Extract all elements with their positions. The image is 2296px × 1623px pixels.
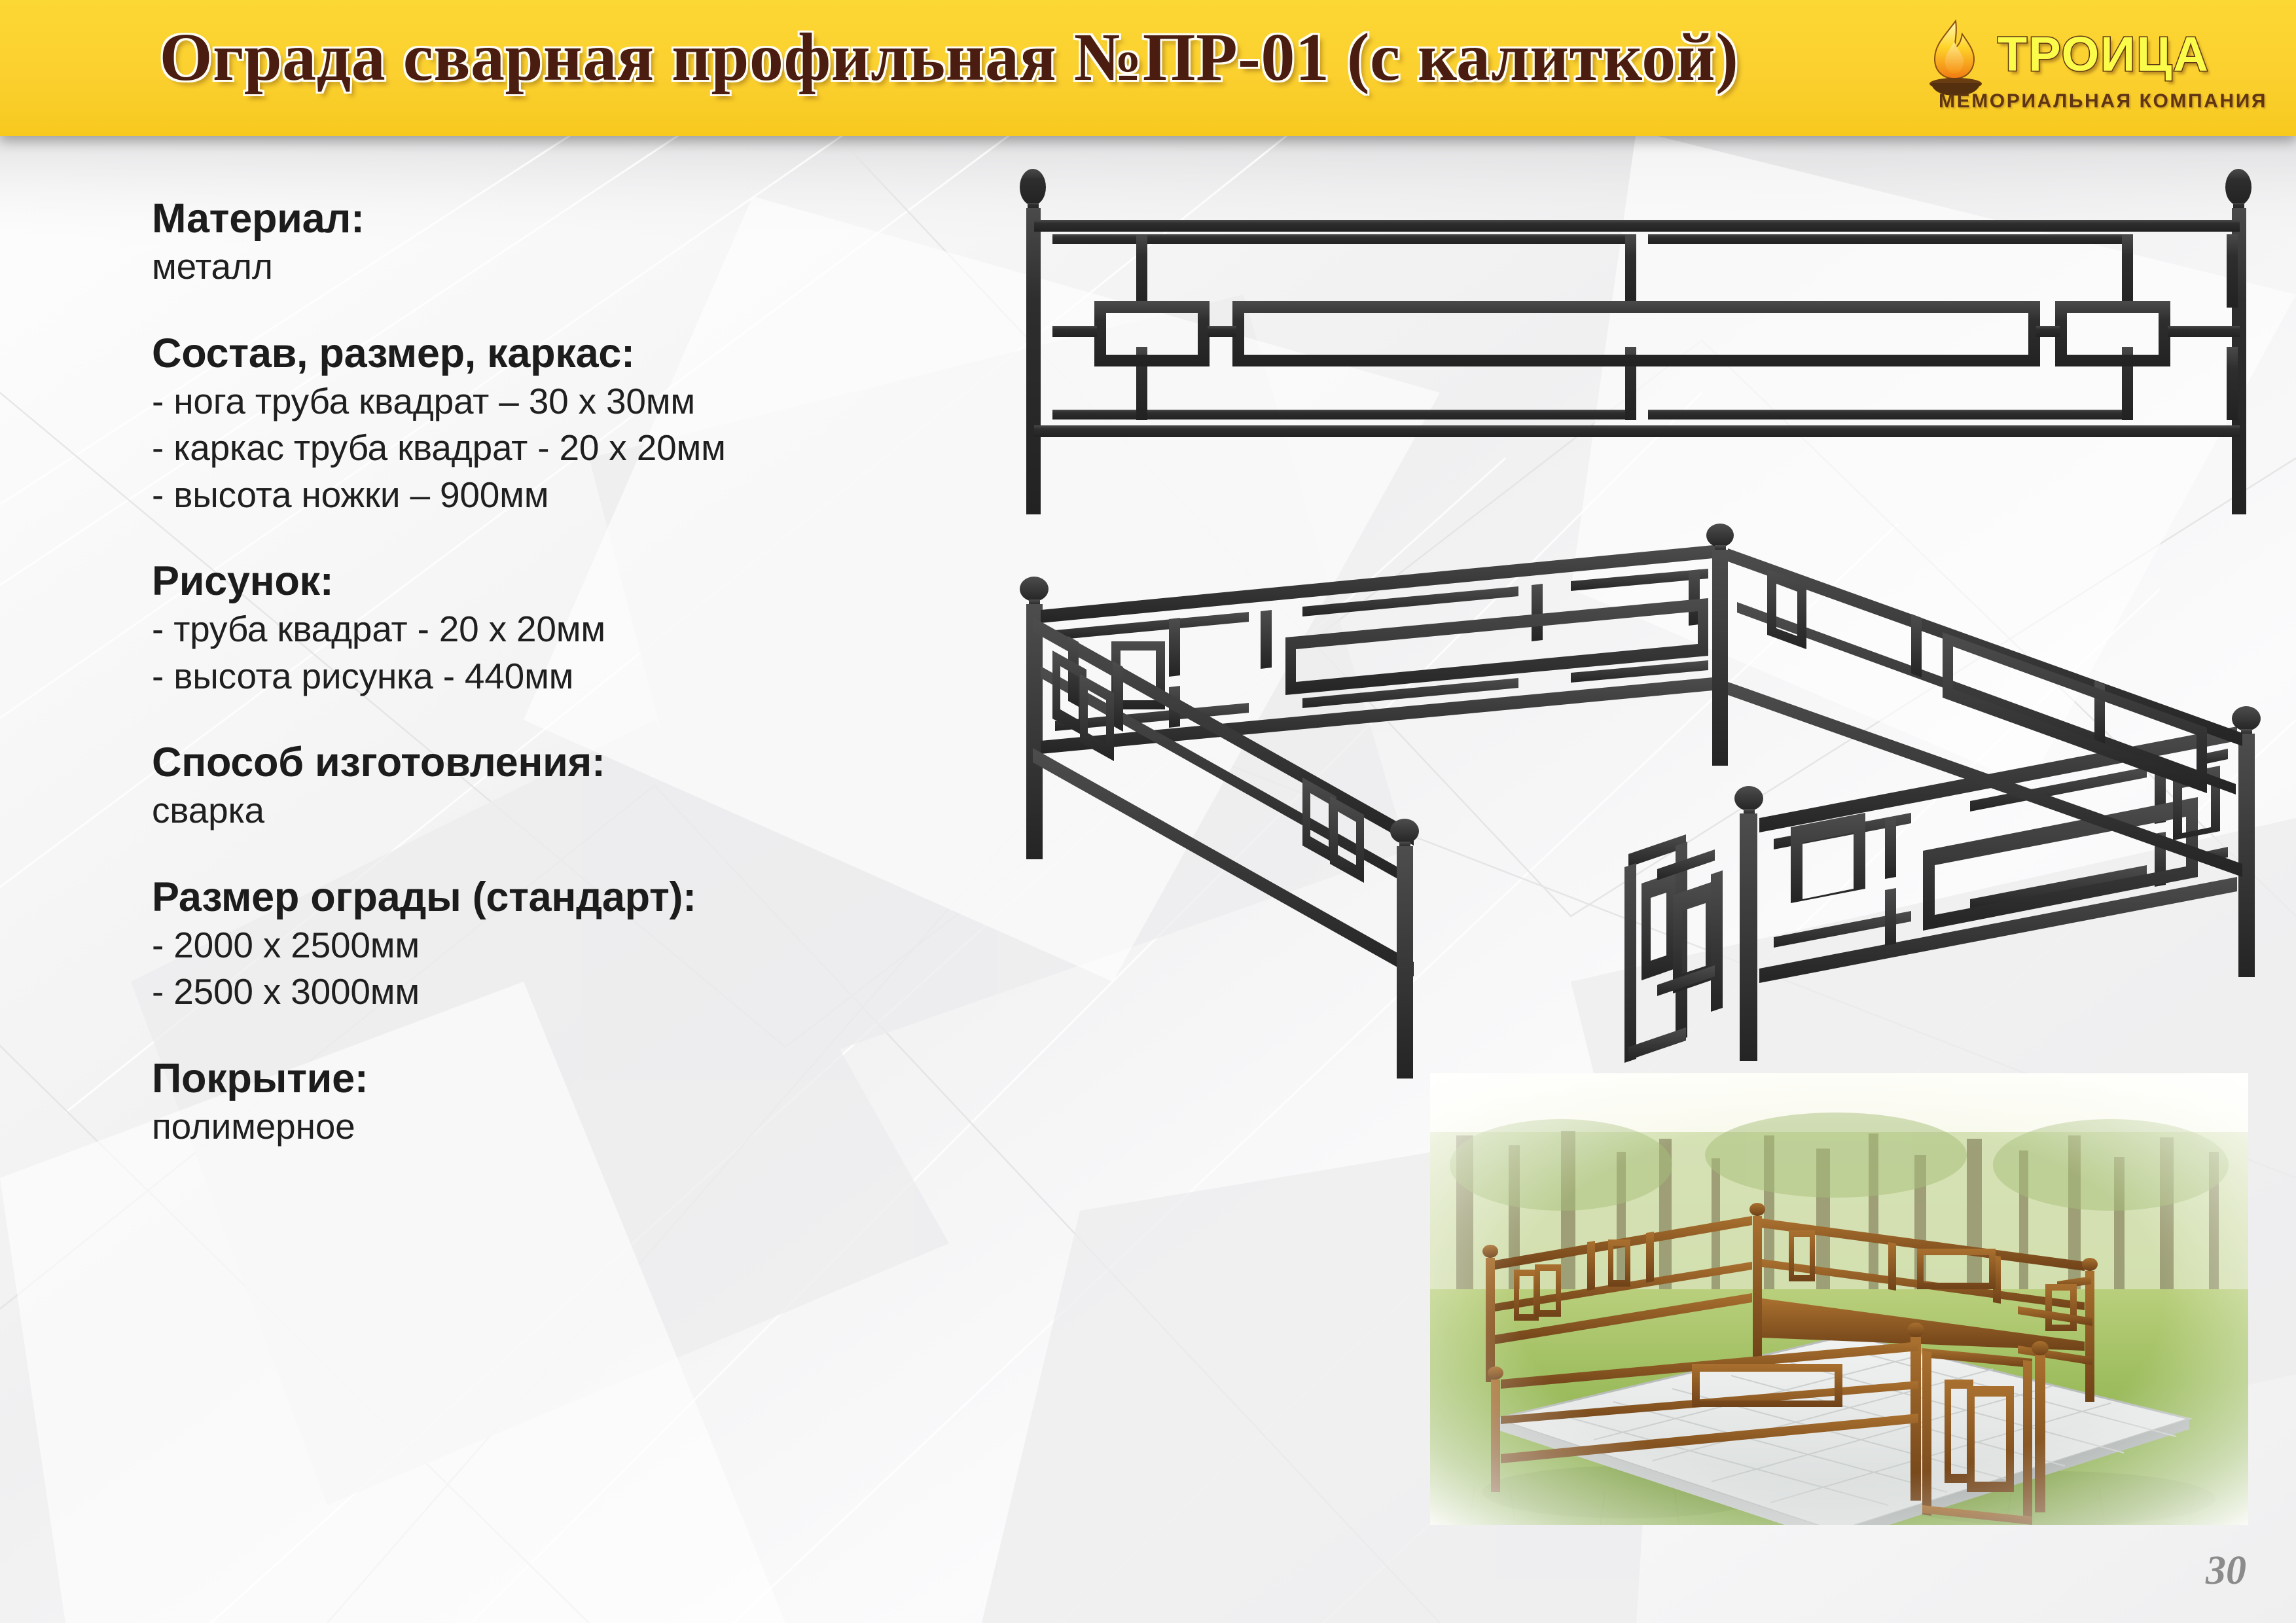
logo-brand-text: ТРОИЦА [1998,26,2210,82]
spec-line: - 2000 х 2500мм [152,922,1016,969]
spec-heading: Способ изготовления: [152,740,1016,785]
spec-block-manufacturing: Способ изготовления: сварка [152,740,1016,834]
spec-heading: Рисунок: [152,559,1016,603]
page-title: Ограда сварная профильная №ПР-01 (с кали… [0,18,1898,96]
fence-perspective-drawing [995,510,2291,1086]
spec-line: - высота рисунка - 440мм [152,653,1016,700]
spec-heading: Размер ограды (стандарт): [152,875,1016,919]
spec-block-material: Материал: металл [152,196,1016,291]
spec-line: сварка [152,787,1016,834]
spec-line: - высота ножки – 900мм [152,472,1016,519]
flame-icon [1915,16,1999,99]
spec-line: - 2500 х 3000мм [152,969,1016,1016]
spec-heading: Состав, размер, каркас: [152,331,1016,376]
spec-line: - каркас труба квадрат - 20 х 20мм [152,425,1016,472]
spec-block-size: Размер ограды (стандарт): - 2000 х 2500м… [152,875,1016,1016]
spec-heading: Покрытие: [152,1056,1016,1101]
spec-line: - труба квадрат - 20 х 20мм [152,606,1016,653]
spec-line: - нога труба квадрат – 30 х 30мм [152,378,1016,425]
logo-tagline-text: МЕМОРИАЛЬНАЯ КОМПАНИЯ [1939,90,2267,113]
fence-elevation-drawing [1008,162,2271,516]
fence-installed-photo [1430,1073,2248,1525]
specification-list: Материал: металл Состав, размер, каркас:… [152,196,1016,1190]
spec-block-frame: Состав, размер, каркас: - нога труба ква… [152,331,1016,519]
page-number: 30 [2206,1548,2246,1594]
spec-block-coating: Покрытие: полимерное [152,1056,1016,1150]
company-logo: ТРОИЦА МЕМОРИАЛЬНАЯ КОМПАНИЯ [1915,10,2282,127]
spec-line: металл [152,243,1016,291]
spec-heading: Материал: [152,196,1016,241]
spec-block-pattern: Рисунок: - труба квадрат - 20 х 20мм - в… [152,559,1016,700]
spec-line: полимерное [152,1103,1016,1150]
